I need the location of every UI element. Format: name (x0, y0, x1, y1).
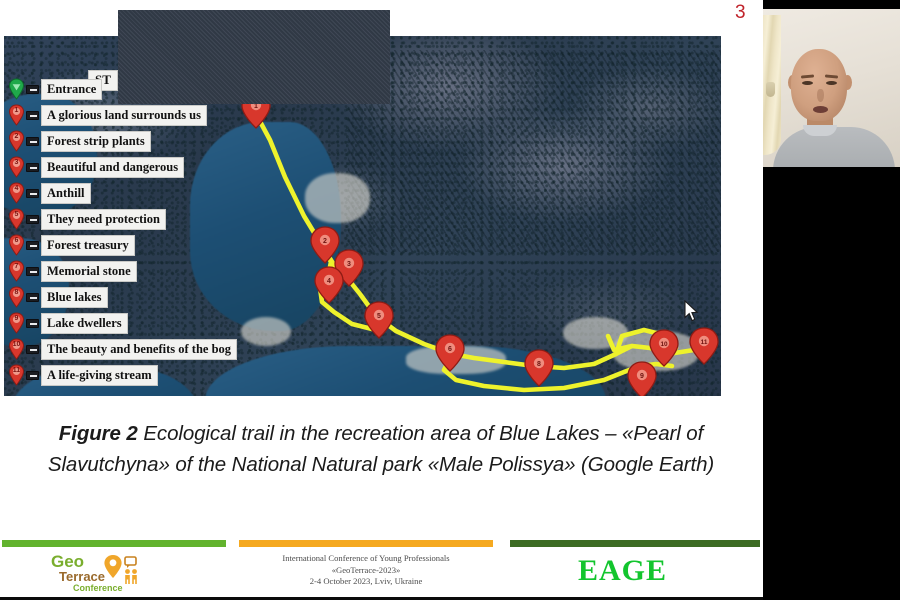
legend-collapse-toggle[interactable] (26, 293, 39, 302)
legend-collapse-toggle[interactable] (26, 215, 39, 224)
legend-collapse-toggle[interactable] (26, 241, 39, 250)
footer-bar-right (510, 540, 760, 547)
occlusion-overlay (118, 10, 390, 104)
legend-item-label: Beautiful and dangerous (41, 157, 184, 178)
legend-item-label: A life-giving stream (41, 365, 158, 386)
conference-line-1: International Conference of Young Profes… (238, 553, 494, 565)
map-pin-icon: 10 (8, 338, 25, 360)
legend-item-label: The beauty and benefits of the bog (41, 339, 237, 360)
legend-item-label: Forest strip plants (41, 131, 151, 152)
svg-text:10: 10 (660, 341, 668, 348)
slide-number: 3 (735, 2, 746, 24)
legend-item[interactable]: 6 Forest treasury (8, 232, 237, 258)
svg-text:8: 8 (537, 361, 541, 368)
start-marker-icon (8, 78, 25, 100)
map-pin-number: 7 (8, 262, 25, 271)
legend-item-label: Anthill (41, 183, 91, 204)
map-pin-icon: 5 (8, 208, 25, 230)
legend-item-label: Blue lakes (41, 287, 108, 308)
conference-line-2: «GeoTerrace-2023» (238, 565, 494, 577)
logo-text-terrace: Terrace (59, 570, 105, 583)
logo-map-pin-people-icon (103, 554, 143, 588)
legend-collapse-toggle[interactable] (26, 111, 39, 120)
footer-bar-middle (239, 540, 493, 547)
svg-text:9: 9 (640, 373, 644, 380)
legend-item[interactable]: 7 Memorial stone (8, 258, 237, 284)
presenter-eye-right (826, 81, 837, 85)
presenter-mouth (813, 106, 828, 113)
map-pin-icon: 8 (8, 286, 25, 308)
legend-item-label: Lake dwellers (41, 313, 128, 334)
map-pin-icon: 9 (8, 312, 25, 334)
legend-item-label: A glorious land surrounds us (41, 105, 207, 126)
svg-text:1: 1 (254, 103, 258, 110)
legend-item[interactable]: 10 The beauty and benefits of the bog (8, 336, 237, 362)
geoterrace-logo: Geo Terrace Conference (45, 552, 163, 596)
legend-collapse-toggle[interactable] (26, 137, 39, 146)
legend-item-label: Forest treasury (41, 235, 135, 256)
map-legend: Entrance 1 A glorious land surrounds us (8, 76, 237, 388)
presenter-nose (817, 89, 824, 102)
legend-collapse-toggle[interactable] (26, 267, 39, 276)
legend-collapse-toggle[interactable] (26, 163, 39, 172)
map-pin-icon: 3 (8, 156, 25, 178)
map-pin-number: 5 (8, 210, 25, 219)
legend-item[interactable]: 4 Anthill (8, 180, 237, 206)
eage-logo: EAGE (578, 556, 667, 586)
conference-line-3: 2-4 October 2023, Lviv, Ukraine (238, 576, 494, 588)
conference-info: International Conference of Young Profes… (238, 553, 494, 588)
legend-item-label: Memorial stone (41, 261, 137, 282)
presentation-slide: 3 (0, 0, 763, 597)
svg-text:11: 11 (701, 339, 708, 346)
legend-collapse-toggle[interactable] (26, 85, 39, 94)
legend-collapse-toggle[interactable] (26, 189, 39, 198)
map-pin-number: 8 (8, 288, 25, 297)
logo-text-geo: Geo (51, 553, 84, 570)
legend-collapse-toggle[interactable] (26, 345, 39, 354)
legend-item[interactable]: 8 Blue lakes (8, 284, 237, 310)
legend-collapse-toggle[interactable] (26, 319, 39, 328)
legend-item-label: Entrance (41, 79, 102, 100)
svg-text:5: 5 (377, 313, 381, 320)
figure-caption-label: Figure 2 (59, 422, 138, 445)
presenter-eye-left (802, 81, 813, 85)
map-pin-number: 1 (8, 106, 25, 115)
map-pin-number: 2 (8, 132, 25, 141)
map-pin-icon: 6 (8, 234, 25, 256)
legend-item[interactable]: 9 Lake dwellers (8, 310, 237, 336)
map-pin-icon: 2 (8, 130, 25, 152)
legend-item[interactable]: 3 Beautiful and dangerous (8, 154, 237, 180)
svg-text:4: 4 (327, 278, 331, 285)
map-pin-icon: 4 (8, 182, 25, 204)
legend-item-label: They need protection (41, 209, 166, 230)
legend-item[interactable]: 1 A glorious land surrounds us (8, 102, 237, 128)
map-pin-number: 11 (8, 366, 25, 375)
map-pin-icon: 1 (8, 104, 25, 126)
legend-item[interactable]: 5 They need protection (8, 206, 237, 232)
map-pin-number: 6 (8, 236, 25, 245)
map-pin-icon: 7 (8, 260, 25, 282)
screen-root: 3 (0, 0, 900, 600)
map-pin-number: 4 (8, 184, 25, 193)
map-pin-number: 9 (8, 314, 25, 323)
map-trail-markers: 1 2 3 4 (242, 92, 718, 396)
webcam-wall-sconce (766, 82, 775, 97)
footer-bar-left (2, 540, 226, 547)
legend-item[interactable]: 2 Forest strip plants (8, 128, 237, 154)
legend-item[interactable]: 11 A life-giving stream (8, 362, 237, 388)
map-pin-number: 10 (8, 340, 25, 349)
legend-collapse-toggle[interactable] (26, 371, 39, 380)
figure-caption: Figure 2 Ecological trail in the recreat… (22, 418, 740, 480)
presenter-webcam-video[interactable] (763, 9, 900, 167)
svg-text:3: 3 (347, 261, 351, 268)
figure-caption-text: Ecological trail in the recreation area … (48, 422, 714, 476)
map-pin-icon: 11 (8, 364, 25, 386)
svg-text:2: 2 (323, 238, 327, 245)
map-pin-number: 3 (8, 158, 25, 167)
